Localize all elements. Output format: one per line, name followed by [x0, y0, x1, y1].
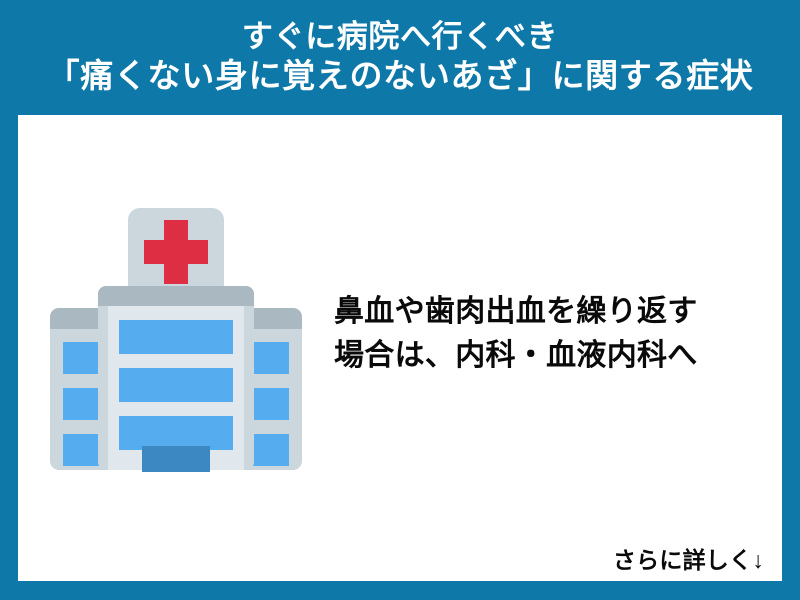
entrance-door	[142, 446, 210, 472]
title-band: すぐに病院へ行くべき 「痛くない身に覚えのないあざ」に関する症状	[0, 0, 800, 115]
message-line-1: 鼻血や歯肉出血を繰り返す	[334, 290, 764, 334]
slide-root: すぐに病院へ行くべき 「痛くない身に覚えのないあざ」に関する症状	[0, 0, 800, 600]
center-window-band	[119, 368, 233, 402]
title-line-1: すぐに病院へ行くべき	[242, 19, 558, 56]
center-window-band	[119, 416, 233, 450]
more-details-link[interactable]: さらに詳しく↓	[613, 541, 764, 575]
message-line-2: 場合は、内科・血液内科へ	[334, 334, 764, 378]
title-line-2: 「痛くない身に覚えのないあざ」に関する症状	[47, 57, 754, 96]
hospital-illustration	[36, 190, 316, 480]
message-block: 鼻血や歯肉出血を繰り返す 場合は、内科・血液内科へ	[334, 290, 764, 378]
content-panel: 鼻血や歯肉出血を繰り返す 場合は、内科・血液内科へ さらに詳しく↓	[18, 115, 782, 581]
center-tower-roof-fill	[98, 296, 254, 306]
hospital-building-icon	[36, 190, 316, 480]
center-window-band	[119, 320, 233, 354]
